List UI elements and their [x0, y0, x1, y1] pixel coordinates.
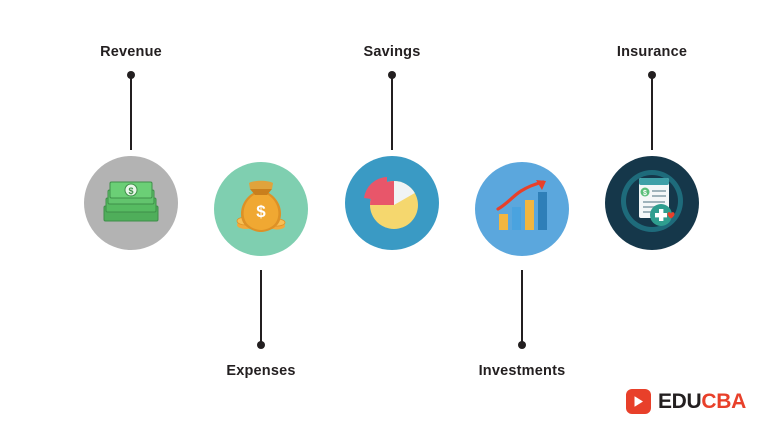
diagram-canvas: Revenue $	[0, 0, 768, 432]
brand-name-part1: EDU	[658, 390, 701, 413]
svg-text:$: $	[128, 186, 133, 196]
connector-stem-insurance	[651, 75, 653, 150]
connector-dot-investments	[518, 341, 526, 349]
node-label-investments: Investments	[442, 363, 602, 379]
node-label-insurance: Insurance	[572, 44, 732, 60]
node-circle-insurance[interactable]: $	[605, 156, 699, 250]
node-circle-investments[interactable]	[475, 162, 569, 256]
node-circle-revenue[interactable]: $	[84, 156, 178, 250]
educba-logo-icon	[626, 389, 651, 414]
node-circle-savings[interactable]	[345, 156, 439, 250]
money-bag-icon: $	[232, 176, 290, 243]
pie-chart-icon	[356, 165, 428, 242]
money-stack-icon: $	[100, 176, 162, 231]
brand-name: EDUCBA	[658, 390, 746, 414]
growth-bar-chart-icon	[491, 178, 553, 241]
connector-dot-expenses	[257, 341, 265, 349]
brand-name-part2: CBA	[701, 390, 746, 413]
connector-stem-revenue	[130, 75, 132, 150]
node-circle-expenses[interactable]: $	[214, 162, 308, 256]
connector-stem-investments	[521, 270, 523, 345]
node-label-expenses: Expenses	[181, 363, 341, 379]
svg-text:$: $	[643, 190, 647, 197]
node-label-revenue: Revenue	[51, 44, 211, 60]
connector-stem-expenses	[260, 270, 262, 345]
node-label-savings: Savings	[312, 44, 472, 60]
insurance-document-shield-icon: $	[619, 168, 685, 239]
brand-logo: EDUCBA	[626, 389, 746, 414]
connector-stem-savings	[391, 75, 393, 150]
svg-text:$: $	[256, 202, 266, 221]
